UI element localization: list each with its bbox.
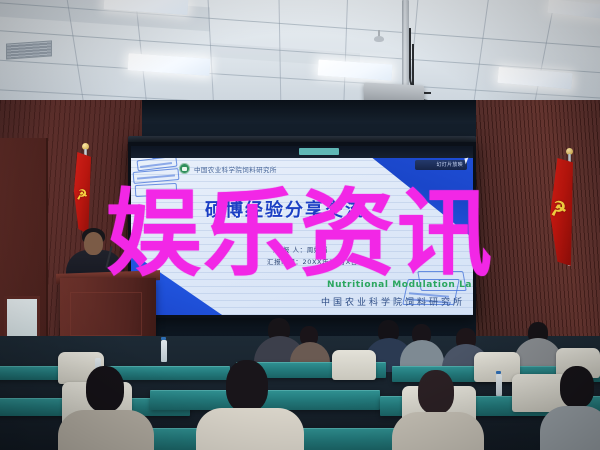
side-door[interactable] — [0, 138, 48, 354]
right-wall-grain — [476, 100, 600, 355]
ceiling-light — [318, 59, 393, 80]
projection-screen: 幻灯片放映 中国农业科学院饲料研究所 硕博经验分享交流 汇 报 人：周姣娟 汇报… — [128, 142, 476, 318]
water-bottle-cap — [161, 337, 166, 340]
slide-title: 硕博经验分享交流 — [205, 196, 415, 222]
smoke-detector-icon — [374, 36, 384, 42]
water-bottle-cap — [496, 371, 501, 374]
slide-status-label: 幻灯片放映 — [436, 161, 463, 168]
ceiling-air-vent — [6, 40, 52, 59]
flag-emblem-left: ☭ — [75, 187, 88, 201]
podium-front-panel — [70, 292, 142, 336]
ceiling-light — [128, 53, 211, 76]
presenter-head — [84, 232, 103, 255]
slide-date: 汇报时间：20XX年11月X日 — [267, 256, 358, 266]
lab-name-chinese: 中国农业科学院饲料研究所 — [321, 295, 465, 308]
slide-presenter: 汇 报 人：周姣娟 — [273, 244, 328, 254]
ceiling — [0, 0, 600, 106]
slide-org-header: 中国农业科学院饲料研究所 — [179, 163, 277, 174]
water-bottle — [161, 340, 167, 362]
ceiling-light — [547, 0, 600, 19]
institute-logo-icon — [179, 163, 190, 174]
presentation-slide: 幻灯片放映 中国农业科学院饲料研究所 硕博经验分享交流 汇 报 人：周姣娟 汇报… — [131, 146, 473, 315]
conference-room-photo: ☭ ☭ 幻灯片放映 中国 — [0, 0, 600, 450]
lab-name-english: Nutritional Modulation Lab — [327, 280, 473, 290]
water-bottle — [496, 374, 502, 396]
book-doodle-icon — [135, 183, 178, 197]
chair-back — [332, 350, 376, 380]
flag-emblem-right: ☭ — [549, 199, 568, 220]
institute-name: 中国农业科学院饲料研究所 — [194, 164, 277, 174]
slide-toolbar-chip[interactable] — [299, 148, 339, 155]
projector-mount-pole — [402, 0, 409, 88]
